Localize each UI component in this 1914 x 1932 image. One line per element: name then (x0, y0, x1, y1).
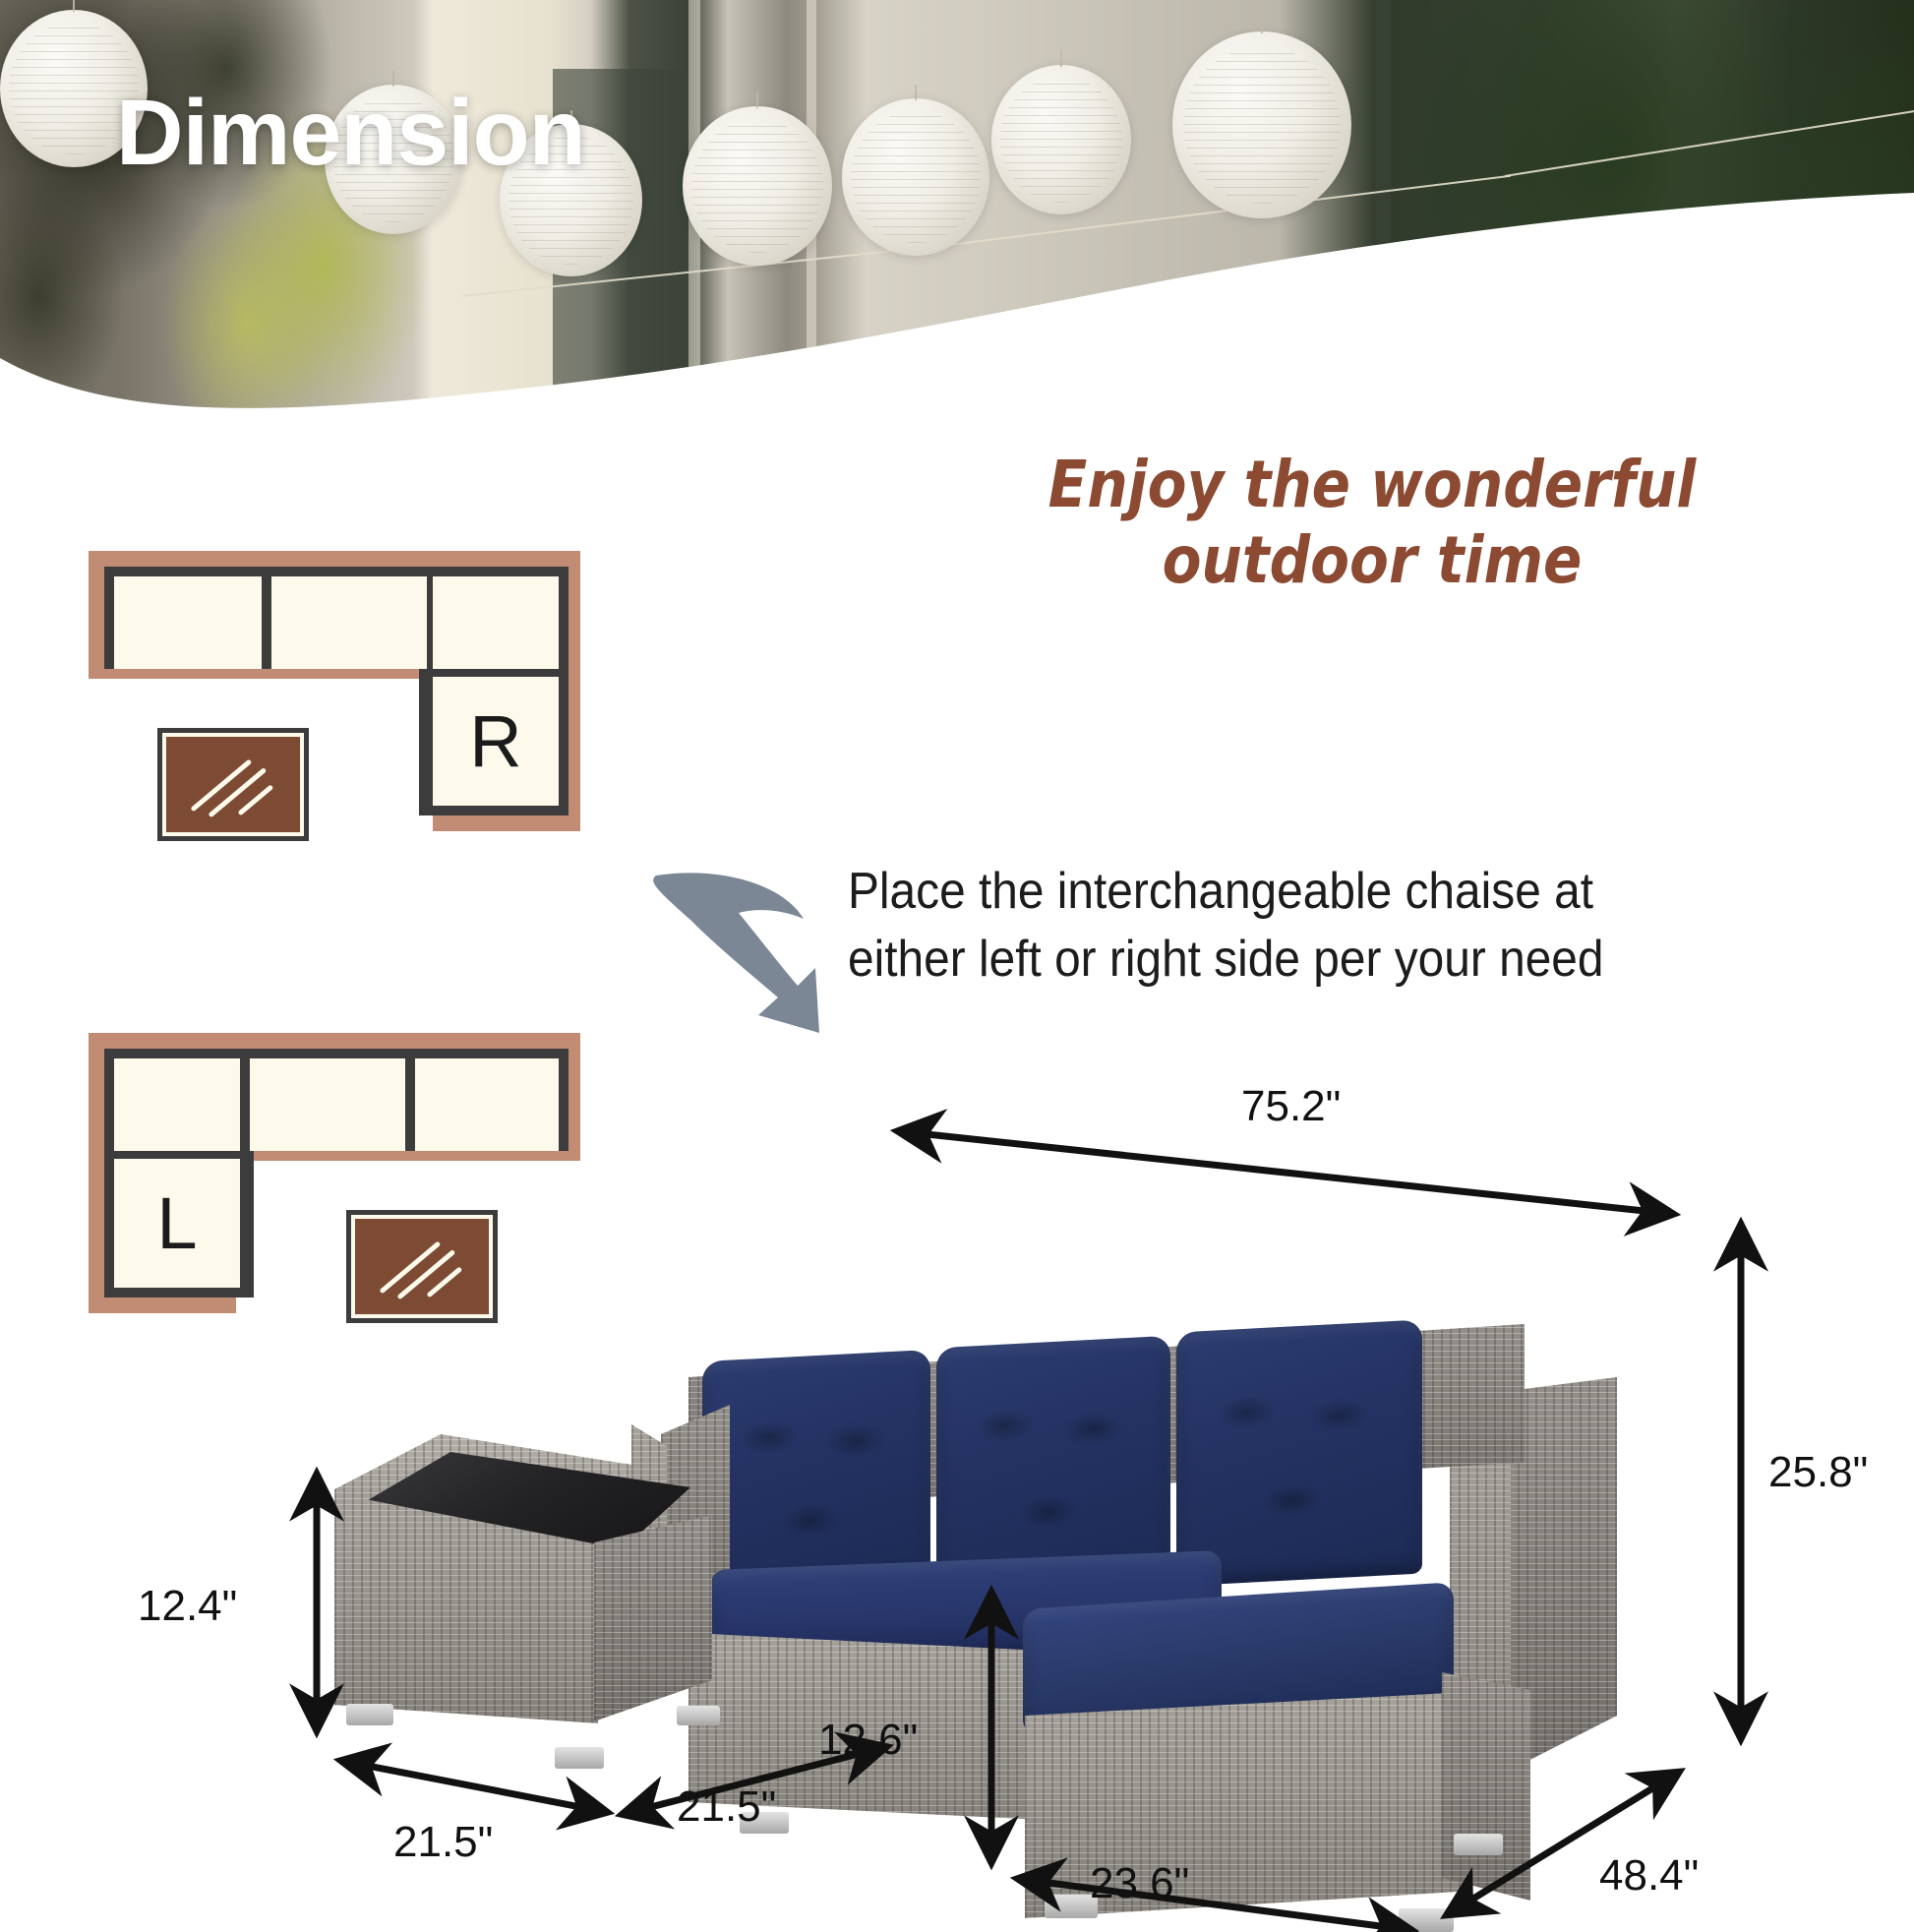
wave-divider (0, 179, 1914, 423)
instruction-line-1: Place the interchangeable chaise at (848, 858, 1753, 926)
dimension-label-sofa-width: 75.2" (1241, 1082, 1341, 1131)
dimension-label-chaise-height: 12.6" (818, 1716, 918, 1765)
instruction-text: Place the interchangeable chaise at eith… (848, 858, 1753, 993)
dimension-label-table-height: 12.4" (138, 1582, 237, 1631)
product-photo: 75.2" 25.8" 48.4" 12.6" 23.6" 12.4" 21.5… (0, 1082, 1914, 1914)
page-title: Dimension (116, 87, 585, 180)
tagline-line-1: Enjoy the wonderful (970, 448, 1774, 523)
dimension-label-sofa-depth: 48.4" (1599, 1851, 1699, 1901)
seat-cell (271, 576, 427, 669)
curved-arrow-down-left-icon (644, 858, 821, 1035)
glass-table-icon (157, 728, 309, 841)
configuration-diagram-right: R (89, 551, 600, 866)
instruction-line-2: either left or right side per your need (848, 926, 1753, 994)
tagline: Enjoy the wonderful outdoor time (970, 448, 1774, 598)
seat-cell (114, 576, 262, 669)
dimension-lines (0, 1082, 1914, 1914)
tagline-line-2: outdoor time (970, 523, 1774, 599)
dimension-label-chaise-width: 23.6" (1090, 1859, 1189, 1908)
dimension-label-table-width: 21.5" (393, 1818, 493, 1867)
dimension-label-table-depth: 21.5" (677, 1782, 776, 1832)
hero-banner (0, 0, 1914, 423)
dimension-label-sofa-height: 25.8" (1768, 1448, 1868, 1497)
seat-cell (433, 576, 559, 669)
chaise-cell-right: R (433, 677, 559, 806)
